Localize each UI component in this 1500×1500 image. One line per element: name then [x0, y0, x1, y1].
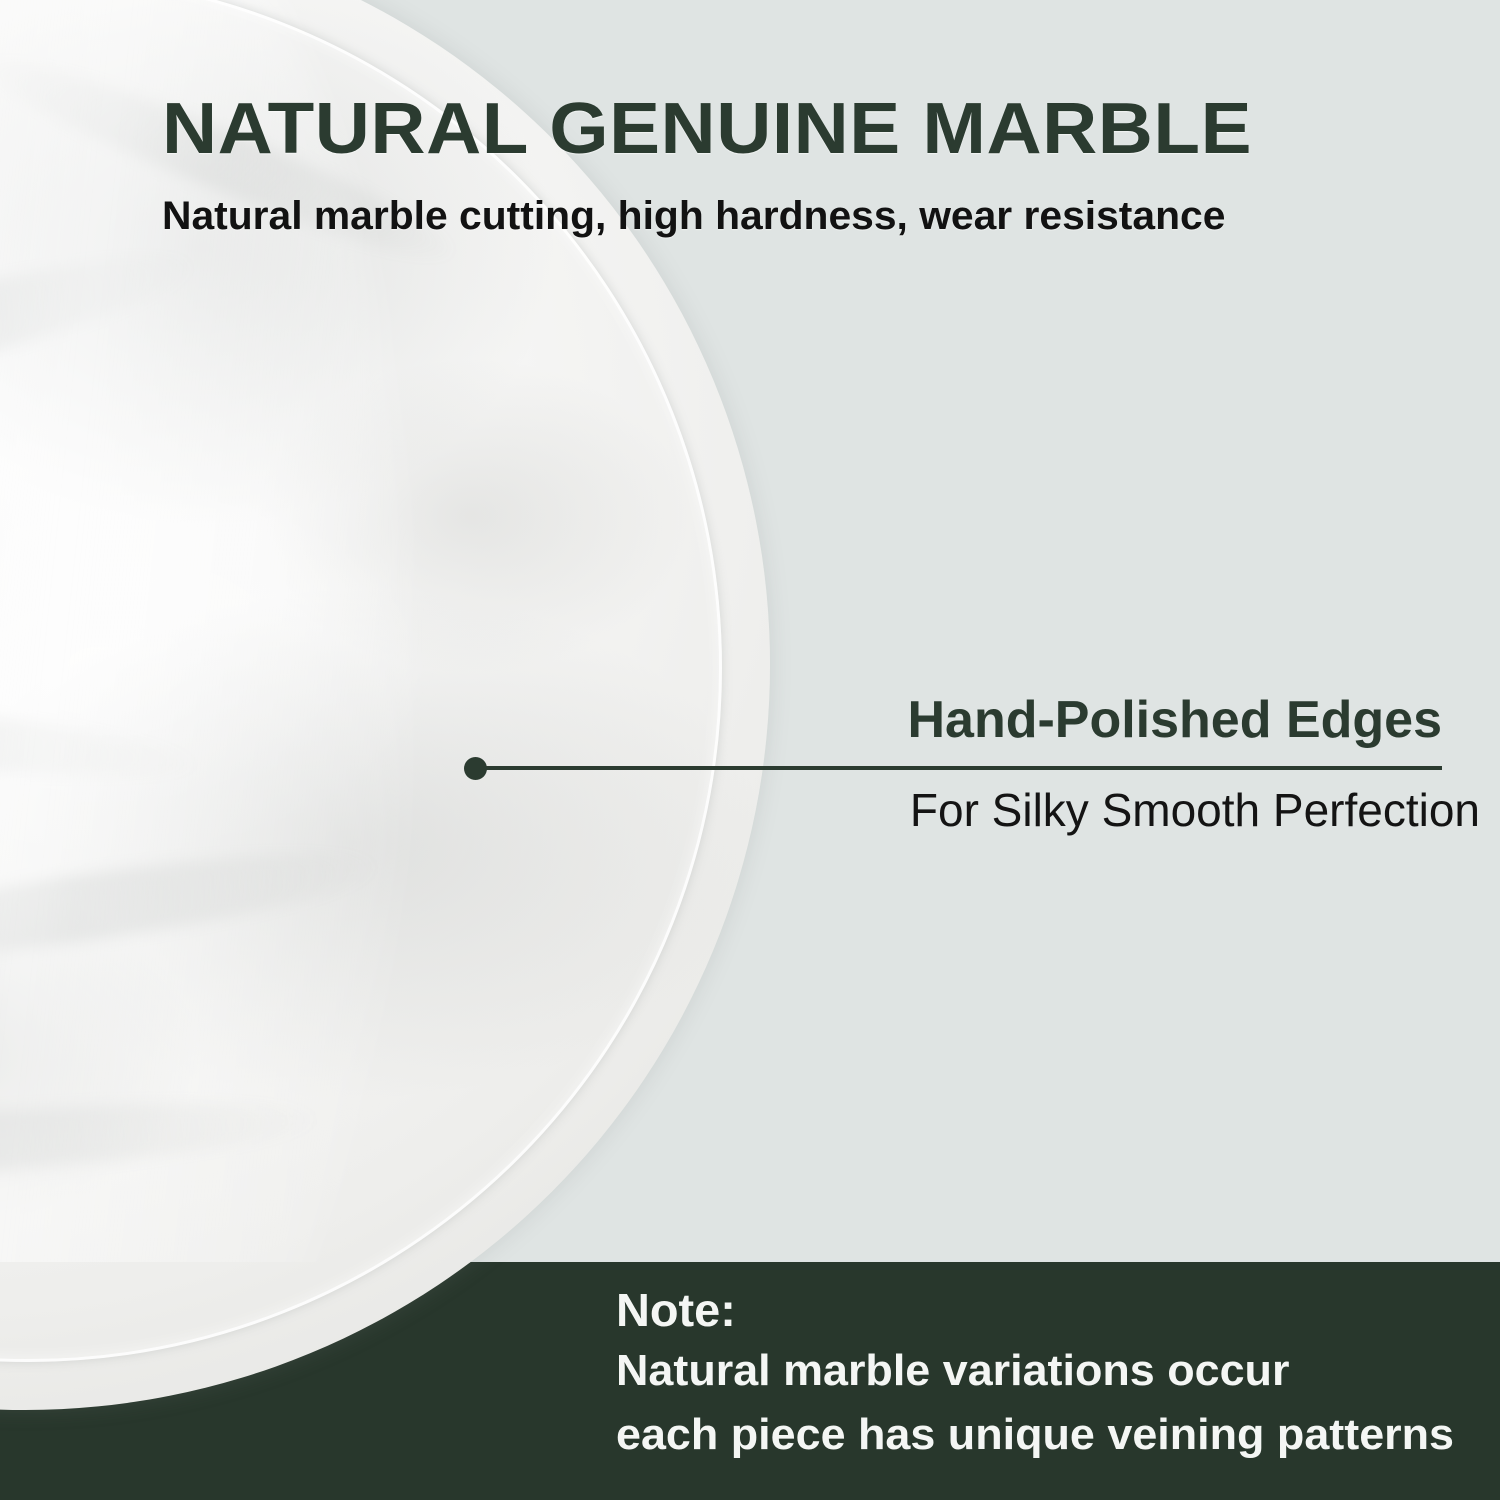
page-subtitle: Natural marble cutting, high hardness, w… — [162, 194, 1225, 239]
note-text-block: Note: Natural marble variations occur ea… — [616, 1281, 1496, 1467]
note-label: Note: — [616, 1281, 1500, 1339]
page-title: NATURAL GENUINE MARBLE — [162, 88, 1252, 170]
callout-title: Hand-Polished Edges — [907, 690, 1442, 750]
product-feature-image: NATURAL GENUINE MARBLE Natural marble cu… — [0, 0, 1500, 1500]
note-line: Natural marble variations occur — [616, 1339, 1500, 1403]
callout-dot-icon — [464, 757, 487, 780]
note-line: each piece has unique veining patterns — [616, 1403, 1500, 1467]
callout-subtitle: For Silky Smooth Perfection — [910, 783, 1480, 837]
callout-leader-line — [486, 766, 1442, 770]
